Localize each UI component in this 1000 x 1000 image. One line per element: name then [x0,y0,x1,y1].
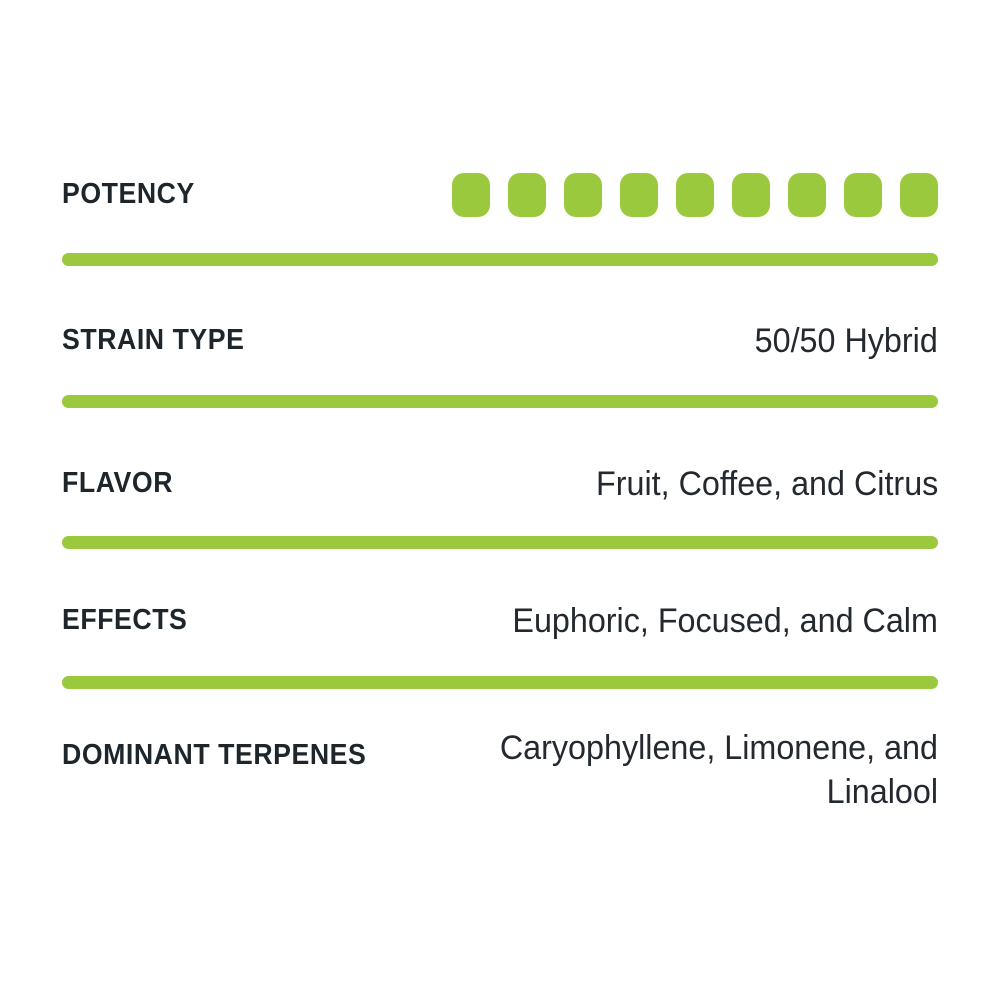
divider-rule [62,395,938,408]
potency-pip [564,173,602,217]
potency-pip [676,173,714,217]
spec-row-dominant-terpenes: DOMINANT TERPENES Caryophyllene, Limonen… [62,726,938,834]
spec-row-potency: POTENCY [62,160,938,230]
potency-pip [844,173,882,217]
spec-value-effects: Euphoric, Focused, and Calm [512,599,938,643]
spec-row-flavor: FLAVOR Fruit, Coffee, and Citrus [62,448,938,520]
spec-value-strain-type: 50/50 Hybrid [755,319,938,363]
spec-row-effects: EFFECTS Euphoric, Focused, and Calm [62,585,938,657]
strain-spec-sheet: POTENCY STRAIN TYPE 50/50 Hybrid FLAVOR … [0,0,1000,1000]
spec-row-strain-type: STRAIN TYPE 50/50 Hybrid [62,305,938,377]
divider-rule [62,253,938,266]
spec-label-dominant-terpenes: DOMINANT TERPENES [62,726,366,772]
potency-pip [732,173,770,217]
potency-pip [620,173,658,217]
potency-meter [452,173,938,217]
divider-rule [62,536,938,549]
spec-label-strain-type: STRAIN TYPE [62,325,244,357]
spec-value-dominant-terpenes: Caryophyllene, Limonene, and Linalool [492,726,939,814]
potency-pip [900,173,938,217]
spec-label-flavor: FLAVOR [62,468,173,500]
spec-label-potency: POTENCY [62,179,195,211]
potency-pip [508,173,546,217]
spec-value-flavor: Fruit, Coffee, and Citrus [596,462,938,506]
spec-label-effects: EFFECTS [62,605,187,637]
potency-pip [788,173,826,217]
potency-pip [452,173,490,217]
divider-rule [62,676,938,689]
